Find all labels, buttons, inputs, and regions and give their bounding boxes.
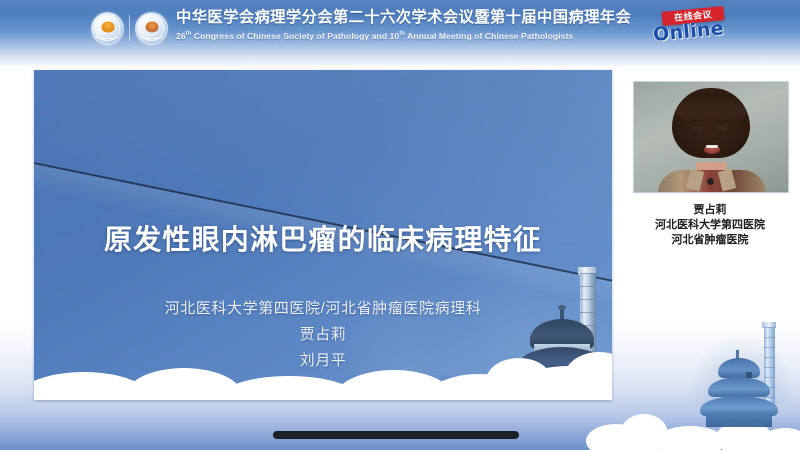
conference-title-en: 26th Congress of Chinese Society of Path… bbox=[176, 28, 606, 43]
speaker-name: 贾占莉 bbox=[620, 203, 800, 218]
speaker-necklace bbox=[707, 178, 714, 185]
conference-title-cn: 中华医学会病理学分会第二十六次学术会议暨第十届中国病理年会 bbox=[176, 8, 606, 27]
speaker-teeth bbox=[706, 145, 718, 148]
title-en-segment: 26 bbox=[176, 31, 186, 41]
slide-cloud bbox=[34, 384, 612, 400]
header-title-block: 中华医学会病理学分会第二十六次学术会议暨第十届中国病理年会 26th Congr… bbox=[176, 8, 606, 43]
speaker-eyebrow bbox=[693, 120, 704, 122]
speaker-organization-2: 河北省肿瘤医院 bbox=[620, 233, 800, 248]
header-logos bbox=[92, 9, 167, 47]
online-meeting-badge: 在线会议 Online bbox=[653, 9, 739, 45]
chinese-medical-association-emblem bbox=[92, 13, 123, 44]
temple-watermark bbox=[700, 350, 778, 428]
speaker-eyebrow bbox=[717, 120, 728, 122]
presentation-slide[interactable]: 原发性眼内淋巴瘤的临床病理特征 河北医科大学第四医院/河北省肿瘤医院病理科 贾占… bbox=[34, 70, 612, 400]
slide-title: 原发性眼内淋巴瘤的临床病理特征 bbox=[34, 218, 612, 258]
speaker-eye bbox=[694, 126, 703, 130]
title-en-segment: Annual Meeting of Chinese Pathologists bbox=[405, 31, 573, 41]
webinar-viewer: 中华医学会病理学分会第二十六次学术会议暨第十届中国病理年会 26th Congr… bbox=[0, 0, 800, 450]
chinese-society-of-pathology-emblem bbox=[136, 13, 167, 44]
speaker-video-feed[interactable] bbox=[634, 82, 788, 192]
slide-cloud-band bbox=[34, 338, 612, 400]
speaker-organization-1: 河北医科大学第四医院 bbox=[620, 218, 800, 233]
slide-affiliation: 河北医科大学第四医院/河北省肿瘤医院病理科 bbox=[34, 296, 612, 322]
logo-divider bbox=[129, 15, 130, 41]
speaker-info: 贾占莉 河北医科大学第四医院 河北省肿瘤医院 bbox=[620, 203, 800, 248]
speaker-eye bbox=[718, 126, 727, 130]
slide-progress-bar[interactable] bbox=[273, 431, 519, 439]
temple-of-heaven-watermark bbox=[690, 300, 794, 440]
title-en-segment: Congress of Chinese Society of Pathology… bbox=[191, 31, 399, 41]
